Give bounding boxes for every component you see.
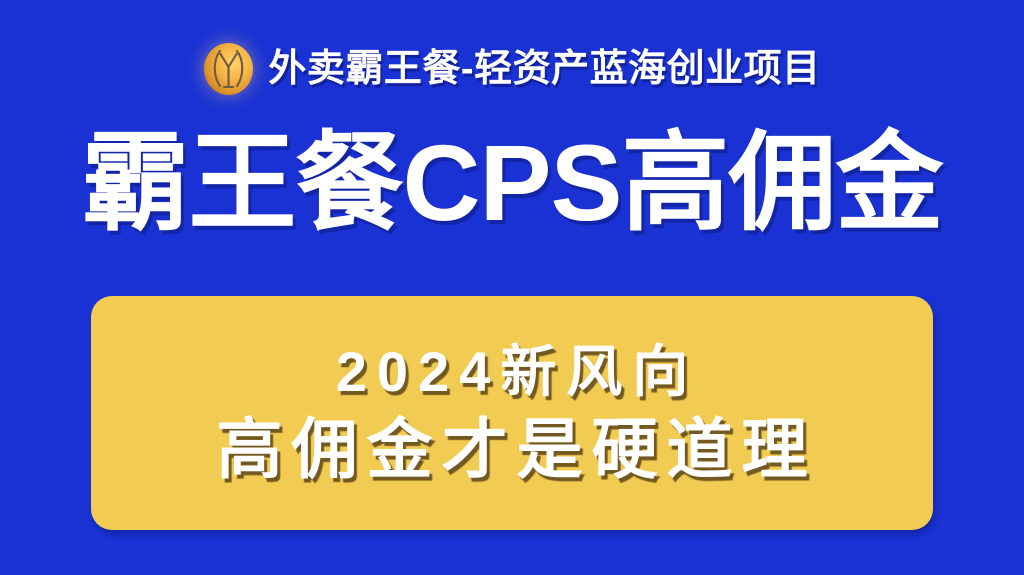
panel-headline-secondary: 高佣金才是硬道理: [208, 416, 817, 482]
highlight-panel: 2024新风向 高佣金才是硬道理: [91, 296, 933, 530]
brand-monogram-icon: [203, 42, 254, 96]
panel-headline-primary: 2024新风向: [326, 344, 699, 400]
header-title: 外卖霸王餐-轻资产蓝海创业项目: [268, 50, 820, 88]
page-title: 霸王餐CPS高佣金: [0, 126, 1024, 240]
promo-poster: 外卖霸王餐-轻资产蓝海创业项目 霸王餐CPS高佣金 2024新风向 高佣金才是硬…: [0, 0, 1024, 575]
header-row: 外卖霸王餐-轻资产蓝海创业项目: [0, 36, 1024, 102]
